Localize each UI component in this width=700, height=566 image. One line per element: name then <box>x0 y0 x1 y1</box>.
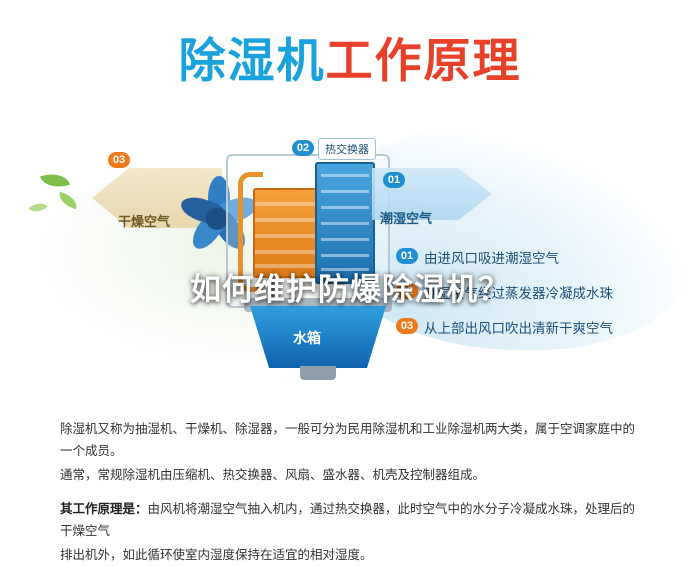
body-text: 除湿机又称为抽湿机、干燥机、除湿器，一般可分为民用除湿机和工业除湿机两大类，属于… <box>60 418 644 566</box>
badge-03-left: 03 <box>108 152 130 168</box>
body-paragraph-1: 除湿机又称为抽湿机、干燥机、除湿器，一般可分为民用除湿机和工业除湿机两大类，属于… <box>60 418 644 462</box>
body-paragraph-3: 其工作原理是：由风机将潮湿空气抽入机内，通过热交换器，此时空气中的水分子冷凝成水… <box>60 498 644 542</box>
principle-illustration: 干燥空气 03 <box>0 110 700 400</box>
title-part-principle: 工作原理 <box>326 34 522 87</box>
humid-air-label: 潮湿空气 <box>380 208 432 227</box>
step-badge-01: 01 <box>396 248 418 264</box>
title-part-dehumidifier: 除湿机 <box>179 34 326 87</box>
badge-02-top: 02 <box>292 140 314 156</box>
leaf-icon <box>40 168 70 192</box>
water-tank-stand <box>300 366 336 380</box>
step-text-03: 从上部出风口吹出清新干爽空气 <box>424 317 613 337</box>
body-paragraph-2: 通常，常规除湿机由压缩机、热交换器、风扇、盛水器、机壳及控制器组成。 <box>60 464 644 486</box>
heat-exchanger-chip: 热交换器 <box>318 138 376 160</box>
page-title: 除湿机工作原理 <box>0 22 700 91</box>
leaf-icon <box>28 198 47 217</box>
badge-01-right: 01 <box>383 172 405 188</box>
water-tank-label: 水箱 <box>293 328 321 348</box>
body-paragraph-4: 排出机外，如此循环使室内湿度保持在适宜的相对湿度。 <box>60 544 644 566</box>
step-badge-03: 03 <box>396 318 418 334</box>
fan-hub <box>206 208 228 230</box>
poster-page: 除湿机工作原理 干燥空气 03 <box>0 0 700 566</box>
dry-air-label: 干燥空气 <box>118 211 170 230</box>
body-principle-label: 其工作原理是： <box>60 502 148 516</box>
headline-overlay: 如何维护防爆除湿机？ <box>0 264 700 309</box>
